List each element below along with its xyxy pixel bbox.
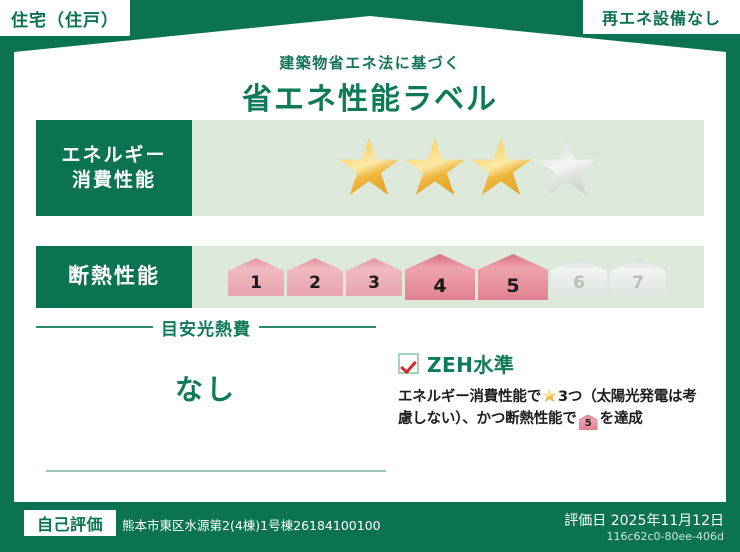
utility-cost-heading: 目安光熱費	[36, 316, 376, 338]
evaluation-date: 評価日 2025年11月12日	[564, 510, 724, 530]
energy-consumption-row: エネルギー 消費性能	[36, 120, 704, 216]
divider-left	[36, 326, 153, 328]
star-2-filled	[404, 138, 466, 198]
inline-house-badge: 5	[579, 414, 598, 430]
insulation-step-1: 1	[228, 258, 284, 296]
bottom-divider	[46, 470, 386, 472]
zeh-desc-part3: を達成	[600, 411, 643, 427]
energy-label-line2: 消費性能	[72, 168, 156, 193]
zeh-desc-part1: エネルギー消費性能で	[398, 389, 541, 405]
label-subtitle: 建築物省エネ法に基づく	[14, 52, 726, 73]
energy-performance-label: 住宅（住戸） 再エネ設備なし 建築物省エネ法に基づく 省エネ性能ラベル エネルギ…	[0, 0, 740, 552]
insulation-performance-label: 断熱性能	[36, 246, 192, 308]
property-address: 熊本市東区水源第2(4棟)1号棟26184100100	[122, 515, 381, 534]
insulation-step-3: 3	[346, 258, 402, 296]
insulation-step-2: 2	[287, 258, 343, 296]
star-1-filled	[338, 138, 400, 198]
renewable-energy-tag: 再エネ設備なし	[583, 0, 740, 34]
insulation-step-5: 5	[478, 254, 548, 300]
utility-cost-value: なし	[36, 368, 376, 408]
insulation-performance-row: 断熱性能 1 2 3 4 5 6 7	[36, 246, 704, 308]
insulation-step-7-value: 7	[632, 275, 644, 296]
zeh-section: ZEH水準 エネルギー消費性能で3つ（太陽光発電は考慮しない）、かつ断熱性能で5…	[398, 349, 704, 431]
insulation-step-6: 6	[551, 258, 607, 296]
self-evaluation-badge: 自己評価	[24, 510, 116, 536]
insulation-step-5-value: 5	[506, 277, 519, 300]
page-title: 省エネ性能ラベル	[14, 74, 726, 118]
energy-consumption-label: エネルギー 消費性能	[36, 120, 192, 216]
building-type-tag: 住宅（住戸）	[0, 0, 130, 36]
utility-cost-title: 目安光熱費	[161, 315, 251, 340]
star-4-empty	[536, 138, 598, 198]
energy-label-line1: エネルギー	[61, 143, 166, 168]
insulation-step-3-value: 3	[368, 275, 380, 296]
zeh-heading: ZEH水準	[398, 349, 704, 378]
insulation-step-6-value: 6	[573, 275, 585, 296]
zeh-desc-stars: 3つ（太陽光発電	[558, 389, 668, 405]
insulation-step-4-value: 4	[433, 277, 446, 300]
label-card: 建築物省エネ法に基づく 省エネ性能ラベル エネルギー 消費性能 断熱性能	[14, 16, 726, 540]
inline-star-icon	[542, 388, 557, 403]
zeh-title: ZEH水準	[427, 349, 514, 378]
document-id: 116c62c0-80ee-406d	[606, 530, 724, 543]
insulation-step-1-value: 1	[250, 275, 262, 296]
label-footer: 自己評価 熊本市東区水源第2(4棟)1号棟26184100100 評価日 202…	[0, 502, 740, 552]
insulation-scale: 1 2 3 4 5 6 7	[192, 246, 704, 308]
insulation-step-7: 7	[610, 258, 666, 296]
insulation-step-4: 4	[405, 254, 475, 300]
star-3-filled	[470, 138, 532, 198]
zeh-description: エネルギー消費性能で3つ（太陽光発電は考慮しない）、かつ断熱性能で5を達成	[398, 386, 704, 431]
checkmark-icon	[398, 353, 419, 374]
energy-star-rating	[192, 120, 704, 216]
insulation-step-2-value: 2	[309, 275, 321, 296]
divider-right	[259, 326, 376, 328]
